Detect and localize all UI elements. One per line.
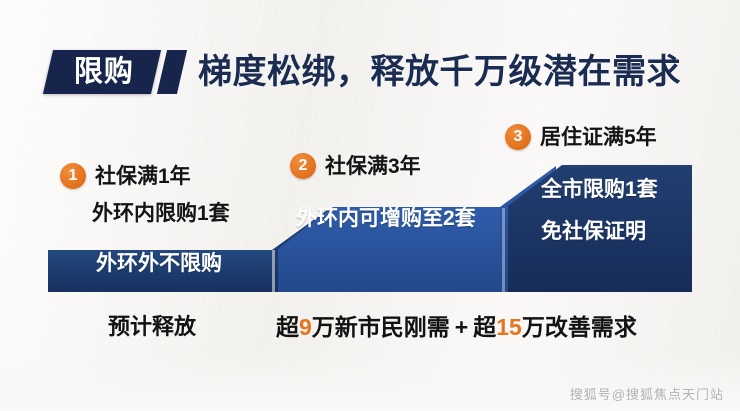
figure-plus-sign: + xyxy=(455,314,468,340)
page-title: 梯度松绑，释放千万级潜在需求 xyxy=(198,55,681,89)
step-2-label: 社保满3年 xyxy=(325,156,421,177)
summary-figures: 超9万新市民刚需+超15万改善需求 xyxy=(276,316,637,339)
step-1-tread-line-1: 外环外不限购 xyxy=(96,253,222,274)
panel-separator-1 xyxy=(272,250,275,292)
step-3-tread-line-2: 免社保证明 xyxy=(541,221,646,242)
figure-1-number: 9 xyxy=(299,314,312,340)
step-1-header: 1 社保满1年 xyxy=(60,163,191,189)
step-3-header: 3 居住证满5年 xyxy=(505,124,657,150)
header: 限购 梯度松绑，释放千万级潜在需求 xyxy=(48,44,681,100)
step-1-sublabel: 外环内限购1套 xyxy=(92,203,230,224)
step-1-number-badge: 1 xyxy=(60,163,86,189)
figure-2-number: 15 xyxy=(496,314,522,340)
bottom-fade-overlay xyxy=(0,355,740,411)
watermark-label: 搜狐号@搜狐焦点天门站 xyxy=(570,388,724,401)
summary-lead-label: 预计释放 xyxy=(108,316,196,338)
step-2-number-badge: 2 xyxy=(290,153,316,179)
step-3-number-badge: 3 xyxy=(505,124,531,150)
kicker-label: 限购 xyxy=(74,58,134,87)
summary-row: 预计释放 超9万新市民刚需+超15万改善需求 xyxy=(0,306,740,348)
figure-1-suffix: 万新市民刚需 xyxy=(312,314,450,340)
step-1-label: 社保满1年 xyxy=(95,166,191,187)
step-2-header: 2 社保满3年 xyxy=(290,153,421,179)
infographic-canvas: 限购 梯度松绑，释放千万级潜在需求 xyxy=(0,0,740,411)
step-2-tread-line-1: 外环内可增购至2套 xyxy=(296,208,476,229)
step-3-label: 居住证满5年 xyxy=(540,127,657,148)
figure-2-suffix: 万改善需求 xyxy=(522,314,637,340)
kicker-badge: 限购 xyxy=(43,50,161,94)
step-3-tread-line-1: 全市限购1套 xyxy=(541,179,658,200)
figure-1-prefix: 超 xyxy=(276,314,299,340)
kicker-slash-decoration xyxy=(157,50,187,94)
figure-2-prefix: 超 xyxy=(473,314,496,340)
panel-separator-2 xyxy=(502,208,505,292)
